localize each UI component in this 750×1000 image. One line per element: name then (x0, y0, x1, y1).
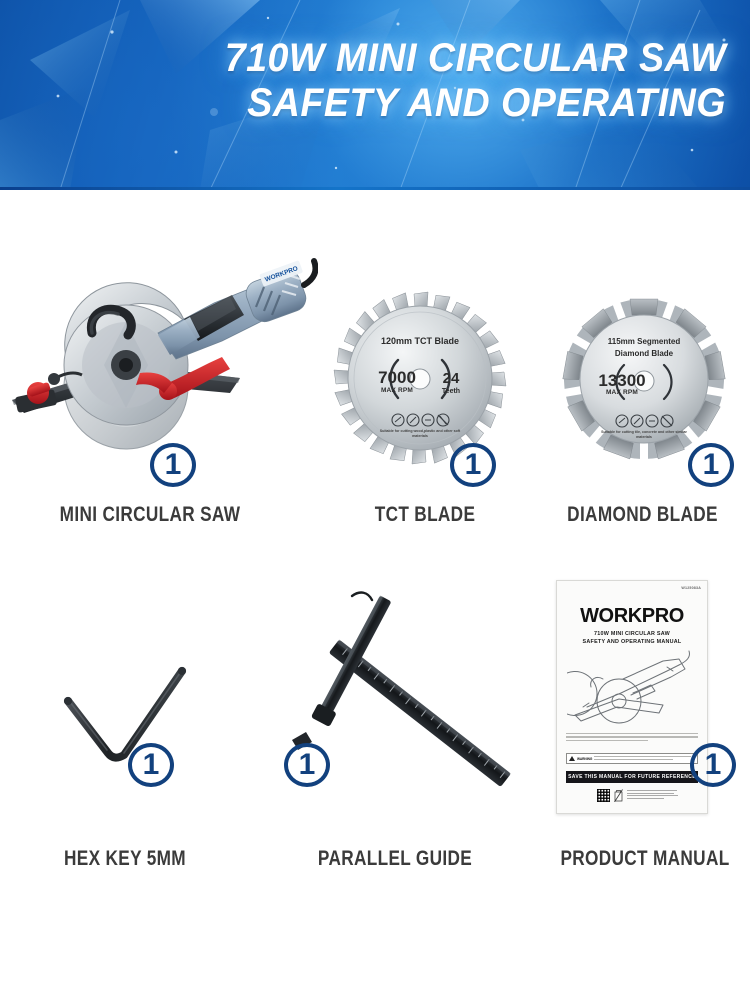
qr-code-icon (597, 789, 610, 802)
caption-mini-circular-saw: MINI CIRCULAR SAW (27, 503, 273, 527)
diamond-blade-image: 115mm Segmented Diamond Blade 13300 MAX … (558, 293, 730, 465)
badge-mini-circular-saw: 1 (150, 443, 196, 487)
mini-circular-saw-image: WORKPRO (8, 215, 318, 465)
manual-footer (597, 789, 698, 809)
manual-warning-lines (594, 756, 695, 761)
tct-blade-image: 120mm TCT Blade 7000 MAX RPM 24 Teeth Su… (330, 288, 510, 468)
manual-brand: WORKPRO (557, 605, 707, 628)
manual-warning-label: WARNING (577, 757, 592, 761)
item-parallel-guide: 1 PARALLEL GUIDE (250, 570, 540, 890)
manual-save-banner: SAVE THIS MANUAL FOR FUTURE REFERENCE (566, 771, 698, 783)
item-tct-blade: 120mm TCT Blade 7000 MAX RPM 24 Teeth Su… (320, 190, 540, 550)
manual-footer-lines (627, 789, 698, 800)
badge-product-manual: 1 (690, 743, 736, 787)
badge-diamond-blade: 1 (688, 443, 734, 487)
badge-parallel-guide: 1 (284, 743, 330, 787)
warning-triangle-icon (569, 756, 575, 761)
badge-hex-key: 1 (128, 743, 174, 787)
caption-diamond-blade: DIAMOND BLADE (558, 503, 726, 527)
badge-tct-blade: 1 (450, 443, 496, 487)
caption-product-manual: PRODUCT MANUAL (559, 847, 731, 871)
manual-paragraph (566, 733, 698, 743)
manual-warning-box: WARNING (566, 753, 698, 764)
banner-title-line2: SAFETY AND OPERATING (162, 81, 726, 126)
caption-hex-key: HEX KEY 5MM (23, 847, 228, 871)
item-hex-key: 1 HEX KEY 5MM (0, 570, 260, 890)
product-infographic: 710W MINI CIRCULAR SAW SAFETY AND OPERAT… (0, 0, 750, 1000)
banner-title: 710W MINI CIRCULAR SAW SAFETY AND OPERAT… (162, 36, 726, 126)
banner-title-line1: 710W MINI CIRCULAR SAW (225, 36, 726, 80)
manual-subtitle-line1: 710W MINI CIRCULAR SAW (557, 631, 707, 637)
manual-saw-line-drawing (567, 649, 697, 727)
product-manual-image: W125083A WORKPRO 710W MINI CIRCULAR SAW … (556, 580, 708, 814)
manual-code: W125083A (681, 586, 701, 590)
item-mini-circular-saw: WORKPRO (0, 190, 320, 550)
product-items-grid: WORKPRO (0, 190, 750, 1000)
header-banner: 710W MINI CIRCULAR SAW SAFETY AND OPERAT… (0, 0, 750, 190)
waste-bin-icon (614, 789, 623, 802)
item-product-manual: W125083A WORKPRO 710W MINI CIRCULAR SAW … (540, 570, 750, 890)
item-diamond-blade: 115mm Segmented Diamond Blade 13300 MAX … (540, 190, 750, 550)
manual-subtitle-line2: SAFETY AND OPERATING MANUAL (557, 639, 707, 645)
caption-parallel-guide: PARALLEL GUIDE (276, 847, 514, 871)
caption-tct-blade: TCT BLADE (339, 503, 511, 527)
